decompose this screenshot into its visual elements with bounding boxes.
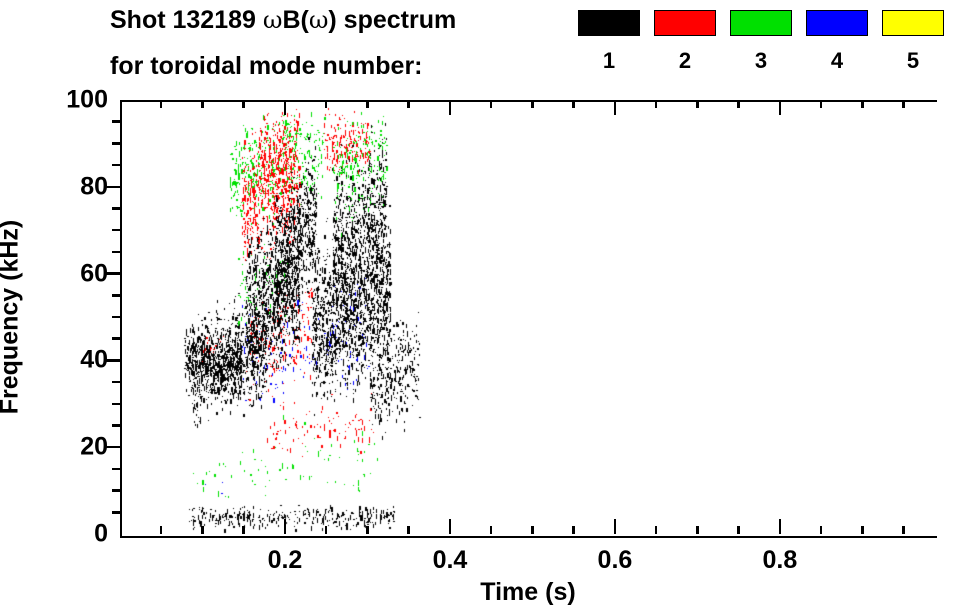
x-minor-tick bbox=[902, 526, 905, 534]
omega-symbol-1: ω bbox=[263, 6, 283, 34]
x-minor-tick bbox=[325, 526, 328, 534]
y-minor-tick bbox=[112, 229, 120, 232]
y-minor-tick bbox=[112, 403, 120, 406]
x-top-tick bbox=[160, 100, 163, 108]
x-major-tick bbox=[779, 519, 782, 534]
legend-entry-n4: 4 bbox=[806, 10, 868, 74]
x-minor-tick bbox=[490, 526, 493, 534]
y-tick-label-0: 0 bbox=[40, 520, 108, 549]
page-subtitle: for toroidal mode number: bbox=[110, 52, 423, 81]
legend-swatch-n2 bbox=[654, 10, 716, 36]
x-minor-tick bbox=[737, 526, 740, 534]
y-tick-label-100: 100 bbox=[40, 86, 108, 115]
x-minor-tick bbox=[655, 526, 658, 534]
x-top-tick bbox=[614, 100, 617, 115]
legend-swatch-n1 bbox=[578, 10, 640, 36]
x-tick-label-0.6: 0.6 bbox=[598, 546, 633, 575]
x-top-tick bbox=[696, 100, 699, 108]
spectrogram-figure: Shot 132189 ωB(ω) spectrum for toroidal … bbox=[0, 0, 963, 615]
x-minor-tick bbox=[366, 526, 369, 534]
title-spectrum-text: ) spectrum bbox=[328, 6, 456, 34]
legend-label-n5: 5 bbox=[882, 48, 944, 74]
x-top-tick bbox=[655, 100, 658, 108]
y-minor-tick bbox=[112, 142, 120, 145]
y-minor-tick bbox=[112, 489, 120, 492]
legend-swatch-n5 bbox=[882, 10, 944, 36]
omega-symbol-2: ω bbox=[309, 6, 329, 34]
x-top-tick bbox=[572, 100, 575, 108]
x-minor-tick bbox=[572, 526, 575, 534]
title-b-open: B( bbox=[282, 6, 308, 34]
x-top-tick bbox=[861, 100, 864, 108]
x-top-tick bbox=[820, 100, 823, 108]
x-minor-tick bbox=[531, 526, 534, 534]
x-top-tick bbox=[366, 100, 369, 108]
y-minor-tick bbox=[112, 207, 120, 210]
y-tick-label-40: 40 bbox=[40, 346, 108, 375]
legend-swatch-n4 bbox=[806, 10, 868, 36]
x-tick-label-0.4: 0.4 bbox=[433, 546, 468, 575]
x-top-tick bbox=[531, 100, 534, 108]
x-top-tick bbox=[201, 100, 204, 108]
legend-entry-n3: 3 bbox=[730, 10, 792, 74]
x-top-tick bbox=[325, 100, 328, 108]
x-tick-label-0.2: 0.2 bbox=[268, 546, 303, 575]
legend-label-n1: 1 bbox=[578, 48, 640, 74]
legend-swatch-n3 bbox=[730, 10, 792, 36]
y-minor-tick bbox=[112, 316, 120, 319]
y-minor-tick bbox=[112, 294, 120, 297]
x-top-tick bbox=[490, 100, 493, 108]
y-axis-title: Frequency (kHz) bbox=[0, 220, 25, 414]
x-minor-tick bbox=[696, 526, 699, 534]
x-major-tick bbox=[614, 519, 617, 534]
x-minor-tick bbox=[820, 526, 823, 534]
y-tick-label-80: 80 bbox=[40, 172, 108, 201]
x-top-tick bbox=[284, 100, 287, 115]
y-minor-tick bbox=[112, 120, 120, 123]
x-major-tick bbox=[284, 519, 287, 534]
x-top-tick bbox=[407, 100, 410, 108]
x-minor-tick bbox=[407, 526, 410, 534]
y-minor-tick bbox=[112, 337, 120, 340]
x-tick-label-0.8: 0.8 bbox=[763, 546, 798, 575]
legend-entry-n1: 1 bbox=[578, 10, 640, 74]
x-major-tick bbox=[449, 519, 452, 534]
x-minor-tick bbox=[861, 526, 864, 534]
y-tick-label-60: 60 bbox=[40, 259, 108, 288]
x-top-tick bbox=[902, 100, 905, 108]
x-top-tick bbox=[737, 100, 740, 108]
y-minor-tick bbox=[112, 424, 120, 427]
y-minor-tick bbox=[112, 251, 120, 254]
x-top-tick bbox=[242, 100, 245, 108]
x-top-tick bbox=[779, 100, 782, 115]
y-minor-tick bbox=[112, 164, 120, 167]
legend-entry-n5: 5 bbox=[882, 10, 944, 74]
legend-label-n4: 4 bbox=[806, 48, 868, 74]
x-minor-tick bbox=[160, 526, 163, 534]
y-minor-tick bbox=[112, 511, 120, 514]
plot-frame bbox=[120, 100, 937, 538]
title-shot-text: Shot 132189 bbox=[110, 6, 263, 34]
legend-entry-n2: 2 bbox=[654, 10, 716, 74]
y-tick-label-20: 20 bbox=[40, 433, 108, 462]
x-top-tick bbox=[449, 100, 452, 115]
page-title: Shot 132189 ωB(ω) spectrum bbox=[110, 6, 456, 35]
y-minor-tick bbox=[112, 468, 120, 471]
legend-label-n3: 3 bbox=[730, 48, 792, 74]
spectrogram-canvas bbox=[122, 102, 937, 536]
y-minor-tick bbox=[112, 381, 120, 384]
x-minor-tick bbox=[242, 526, 245, 534]
legend: 12345 bbox=[578, 10, 958, 88]
x-axis-title: Time (s) bbox=[480, 578, 575, 607]
legend-label-n2: 2 bbox=[654, 48, 716, 74]
x-minor-tick bbox=[201, 526, 204, 534]
